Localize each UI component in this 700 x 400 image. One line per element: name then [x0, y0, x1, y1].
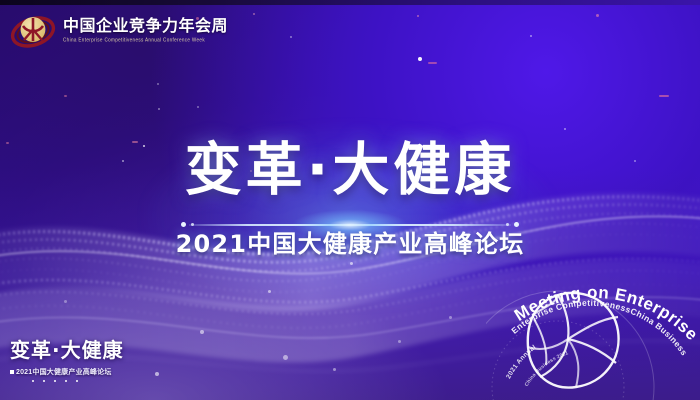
header-logo[interactable]: 中国企业竞争力年会周 China Enterprise Competitiven…: [8, 9, 234, 53]
watermark-dot: [65, 380, 67, 382]
conference-emblem: Meeting on Enterprise Co Enterprise Comp…: [486, 283, 700, 400]
watermark-dot: [76, 380, 78, 382]
watermark: 变革·大健康 2021中国大健康产业高峰论坛: [10, 334, 150, 382]
watermark-dot-row: [10, 380, 150, 382]
header-logo-subtitle: China Enterprise Competitiveness Annual …: [63, 38, 228, 43]
watermark-dot: [43, 380, 45, 382]
watermark-square-icon: [10, 370, 14, 374]
hero-subtitle: 2021中国大健康产业高峰论坛: [0, 224, 700, 259]
watermark-dot: [54, 380, 56, 382]
watermark-subtitle-row: 2021中国大健康产业高峰论坛: [10, 367, 150, 377]
watermark-title: 变革·大健康: [10, 334, 150, 363]
watermark-subtitle: 2021中国大健康产业高峰论坛: [16, 367, 112, 377]
competitiveness-globe-icon: [10, 11, 56, 51]
top-letterbox-bar: [0, 0, 700, 5]
poster-frame: 中国企业竞争力年会周 China Enterprise Competitiven…: [0, 0, 700, 400]
header-logo-title: 中国企业竞争力年会周: [63, 19, 228, 35]
hero-title: 变革·大健康: [0, 124, 700, 206]
header-logo-text: 中国企业竞争力年会周 China Enterprise Competitiven…: [63, 19, 228, 43]
watermark-dot: [32, 380, 34, 382]
